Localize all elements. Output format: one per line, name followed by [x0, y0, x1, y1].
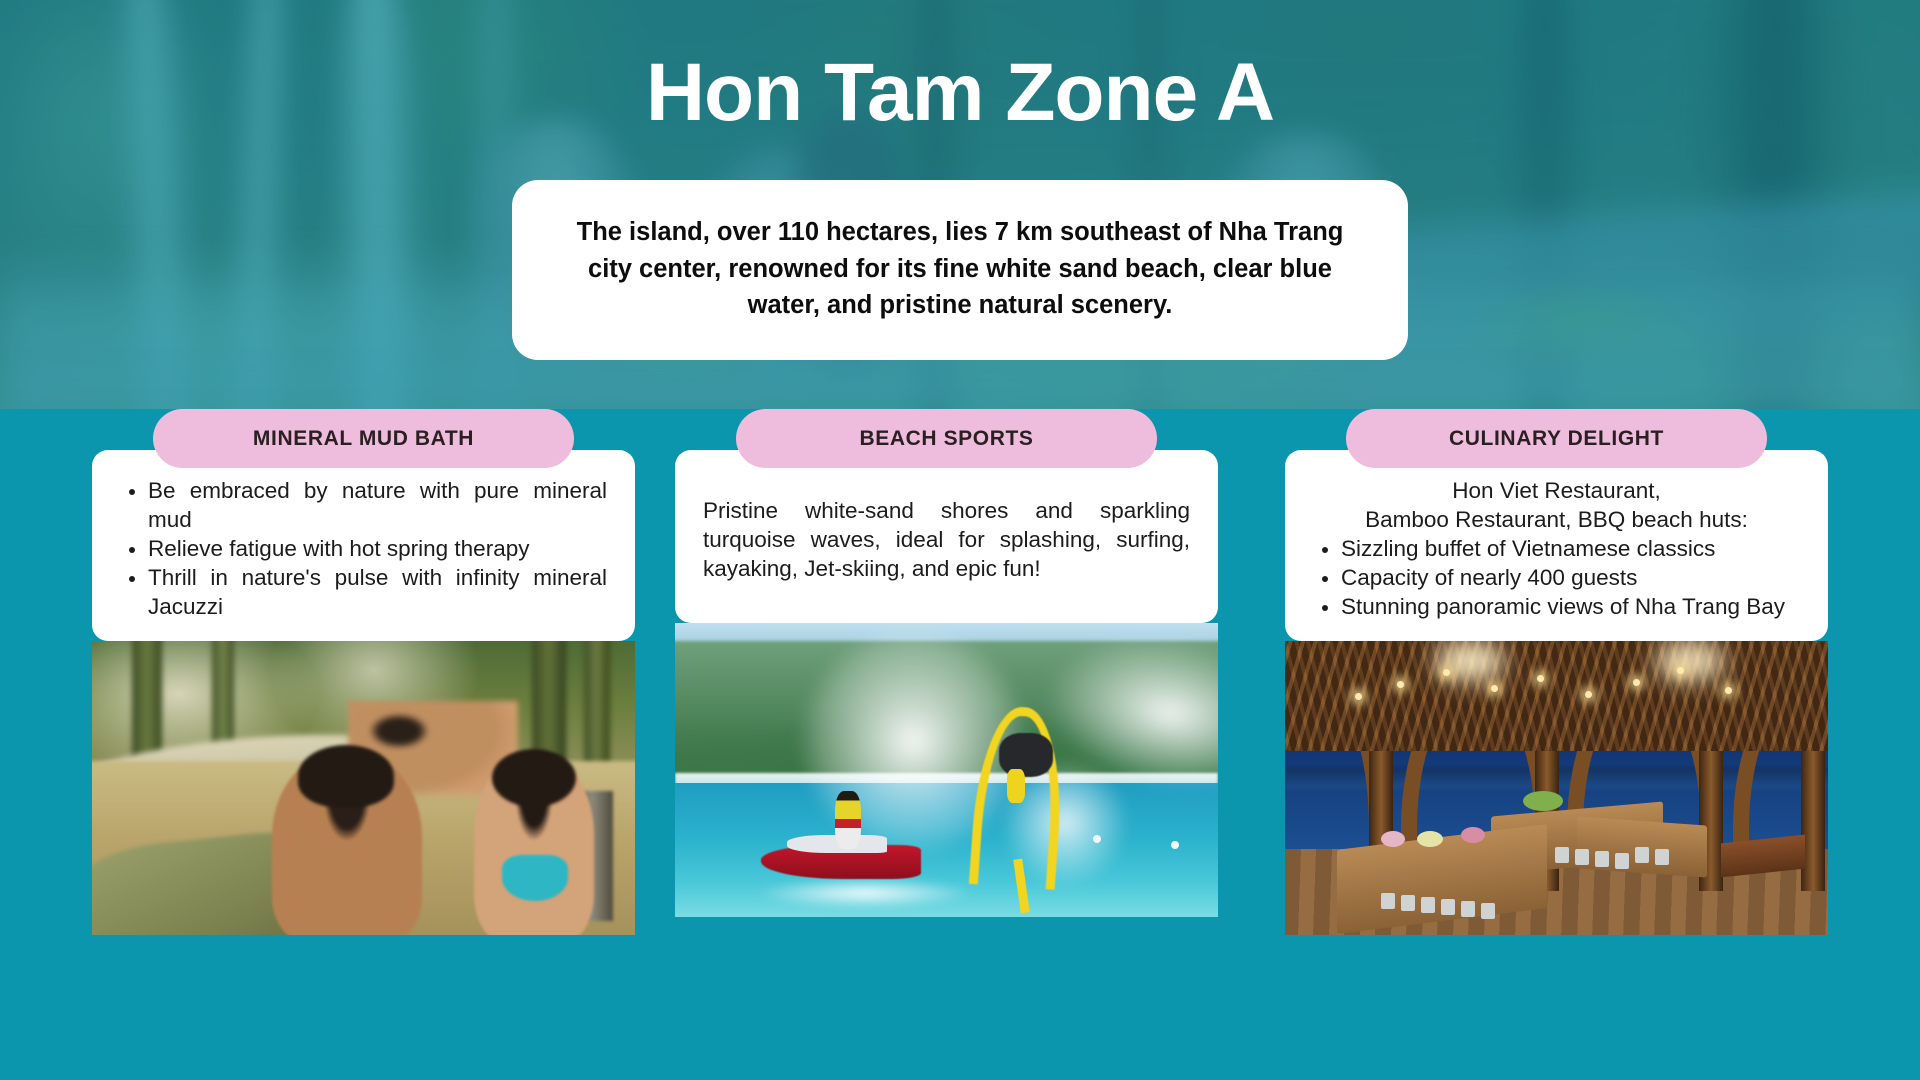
list-item: Be embraced by nature with pure mineral …	[120, 476, 607, 534]
hero-section: Hon Tam Zone A The island, over 110 hect…	[0, 0, 1920, 409]
feature-column-beach-sports: BEACH SPORTS Pristine white-sand shores …	[675, 409, 1218, 917]
badge-mineral-mud-bath[interactable]: MINERAL MUD BATH	[153, 409, 574, 468]
photo-culinary-delight	[1285, 641, 1828, 935]
hero-description-text: The island, over 110 hectares, lies 7 km…	[568, 214, 1352, 324]
photo-mineral-mud-bath	[92, 641, 635, 935]
card-paragraph: Pristine white-sand shores and sparkling…	[703, 496, 1190, 583]
badge-label: CULINARY DELIGHT	[1449, 427, 1664, 451]
page-title: Hon Tam Zone A	[0, 52, 1920, 134]
card-beach-sports: Pristine white-sand shores and sparkling…	[675, 450, 1218, 623]
feature-column-culinary-delight: CULINARY DELIGHT Hon Viet Restaurant, Ba…	[1285, 409, 1828, 935]
restaurant-names: Hon Viet Restaurant, Bamboo Restaurant, …	[1313, 476, 1800, 534]
list-item: Capacity of nearly 400 guests	[1313, 563, 1800, 592]
list-item: Sizzling buffet of Vietnamese classics	[1313, 534, 1800, 563]
photo-beach-sports	[675, 623, 1218, 917]
card-culinary-delight: Hon Viet Restaurant, Bamboo Restaurant, …	[1285, 450, 1828, 641]
bullet-list: Sizzling buffet of Vietnamese classics C…	[1313, 534, 1800, 621]
badge-culinary-delight[interactable]: CULINARY DELIGHT	[1346, 409, 1767, 468]
badge-beach-sports[interactable]: BEACH SPORTS	[736, 409, 1157, 468]
badge-label: MINERAL MUD BATH	[253, 427, 474, 451]
hero-description-card: The island, over 110 hectares, lies 7 km…	[512, 180, 1408, 360]
badge-label: BEACH SPORTS	[859, 427, 1033, 451]
list-item: Stunning panoramic views of Nha Trang Ba…	[1313, 592, 1800, 621]
card-body: Hon Viet Restaurant, Bamboo Restaurant, …	[1313, 476, 1800, 621]
card-mineral-mud-bath: Be embraced by nature with pure mineral …	[92, 450, 635, 641]
bullet-list: Be embraced by nature with pure mineral …	[120, 476, 607, 621]
feature-column-mineral-mud-bath: MINERAL MUD BATH Be embraced by nature w…	[92, 409, 635, 935]
slide-root: Hon Tam Zone A The island, over 110 hect…	[0, 0, 1920, 1080]
card-body: Be embraced by nature with pure mineral …	[120, 476, 607, 621]
list-item: Relieve fatigue with hot spring therapy	[120, 534, 607, 563]
list-item: Thrill in nature's pulse with infinity m…	[120, 563, 607, 621]
feature-columns: MINERAL MUD BATH Be embraced by nature w…	[0, 409, 1920, 1080]
